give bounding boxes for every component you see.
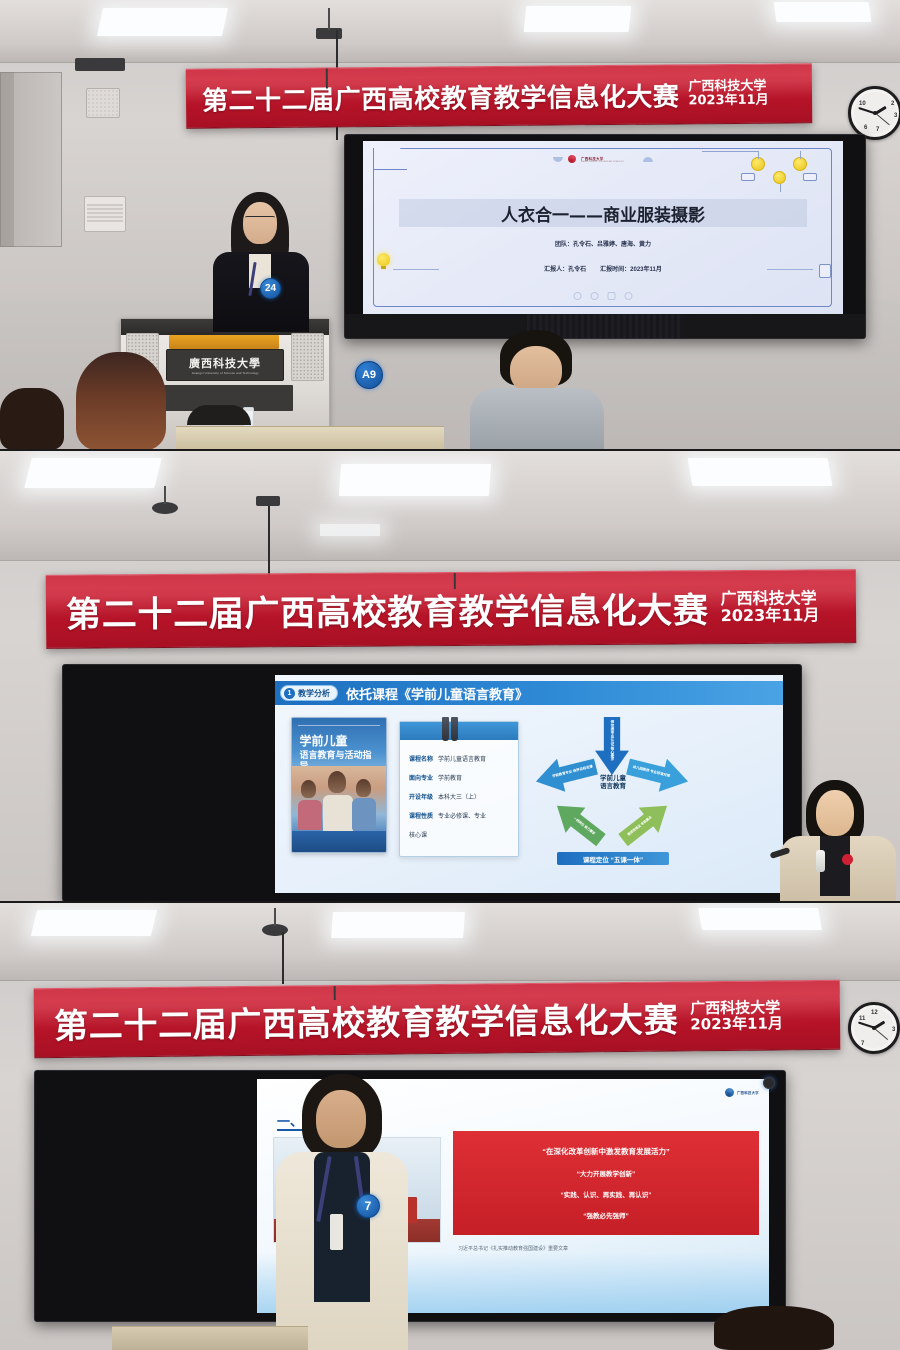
- photo-collage: 10 2 3 6 7 第二十二届广西高校教育教学信息化大赛 广西科技大学 202…: [0, 0, 900, 1350]
- banner-org-line2: 2023年11月: [688, 94, 768, 109]
- red-ribbon-badge: [842, 854, 853, 865]
- decor-node: [751, 157, 765, 171]
- book-photo: [292, 766, 386, 830]
- audience-member: [470, 330, 604, 450]
- diagram-arrow-bottom-left: 一线岗位 能力需求: [547, 793, 611, 853]
- contestant-number-badge: 7: [356, 1194, 380, 1218]
- banner-org-line2: 2023年11月: [690, 1015, 783, 1032]
- decor-chip: [741, 173, 755, 181]
- paper-clip-icon: [442, 717, 458, 741]
- course-info-row: 开设年级 本科大三（上）: [409, 792, 480, 801]
- presenter-face: [316, 1090, 366, 1148]
- course-info-row: 面向专业 学前教育: [409, 773, 462, 782]
- projector-body: [256, 496, 280, 506]
- banner-title: 第二十二届广西高校教育教学信息化大赛: [66, 582, 709, 637]
- quote-line: “强教必先强师”: [583, 1210, 629, 1220]
- banner-org: 广西科技大学 2023年11月: [720, 589, 819, 624]
- presenter-1: 24: [205, 192, 317, 332]
- university-logo-icon: [568, 155, 576, 163]
- ceiling-light: [698, 908, 822, 930]
- slide-teaching-analysis: 1 教学分析 依托课程《学前儿童语言教育》 学前儿童 语言教育与活动指导 主编 …: [275, 675, 783, 893]
- event-banner: 第二十二届广西高校教育教学信息化大赛 广西科技大学 2023年11月: [34, 980, 841, 1058]
- audience-member: [714, 1306, 844, 1350]
- panel-1: 10 2 3 6 7 第二十二届广西高校教育教学信息化大赛 广西科技大学 202…: [0, 0, 900, 450]
- presenter-glasses: [245, 216, 275, 223]
- decor-swoosh-left: [553, 157, 563, 162]
- banner-org-line2: 2023年11月: [721, 606, 820, 624]
- id-card: [330, 1214, 343, 1250]
- presenter-3: 7: [272, 1074, 412, 1350]
- diagram-arrow-bottom-right: 教师资格证 考核要点: [613, 793, 677, 853]
- play-icon: [591, 292, 599, 300]
- display-screen-2: 1 教学分析 依托课程《学前儿童语言教育》 学前儿童 语言教育与活动指导 主编 …: [62, 664, 802, 902]
- handheld-microphone: [816, 850, 825, 872]
- course-info-row: 课程名称 学前儿童语言教育: [409, 754, 486, 763]
- ceiling-light: [339, 464, 491, 496]
- classroom-scene-3: 12 11 3 7 第二十二届广西高校教育教学信息化大赛 广西科技大学 2023…: [0, 902, 900, 1350]
- textbook-cover: 学前儿童 语言教育与活动指导 主编 李静 副主编 王丽萍: [291, 717, 387, 853]
- classroom-scene-1: 10 2 3 6 7 第二十二届广西高校教育教学信息化大赛 广西科技大学 202…: [0, 0, 900, 450]
- five-arrow-diagram: 师范类专业认证 核心要求 学前教育专业 培养目标支撑 幼儿园教师 专业标准对接 …: [533, 715, 691, 865]
- decor-icon: [625, 292, 633, 300]
- ceiling-light: [524, 6, 632, 32]
- wall-speaker: [86, 88, 120, 118]
- slide-title: 人衣合一——商业服装摄影: [501, 201, 705, 226]
- slide-time: 汇报时间：2023年11月: [600, 264, 662, 273]
- decor-icon: [574, 292, 582, 300]
- lectern-speaker: [291, 333, 324, 381]
- contestant-number-badge: 24: [260, 278, 281, 299]
- ceiling-light: [774, 2, 872, 22]
- quote-line: “实践、认识、再实践、再认识”: [561, 1189, 652, 1199]
- banner-org: 广西科技大学 2023年11月: [688, 80, 769, 109]
- quote-box: “在深化改革创新中激发教育发展活力” “大力开展教学创新” “实践、认识、再实践…: [453, 1131, 759, 1235]
- ceiling-light: [31, 910, 157, 936]
- ceiling-light: [97, 8, 228, 36]
- presenter-face: [243, 202, 277, 244]
- ceiling-light: [331, 912, 465, 938]
- banner-org: 广西科技大学 2023年11月: [690, 999, 783, 1032]
- lightbulb-icon: [377, 253, 390, 266]
- ceiling-light: [24, 458, 161, 488]
- desk: [112, 1326, 308, 1350]
- diagram-center-label: 学前儿童 语言教育: [583, 775, 643, 791]
- projector-body: [75, 58, 125, 71]
- wall-clock: 12 11 3 7: [848, 1002, 900, 1054]
- course-info-row: 核心课: [409, 830, 427, 839]
- decor-chip: [803, 173, 817, 181]
- quote-line: “大力开展教学创新”: [577, 1168, 636, 1178]
- wall-control-panel: [84, 196, 126, 232]
- lectern-name-cn: 廣西科技大學: [189, 355, 261, 371]
- section-name: 教学分析: [298, 688, 330, 699]
- presenter-2: [770, 780, 900, 902]
- lectern-name-en: Guangxi University of Science and Techno…: [191, 371, 258, 375]
- audience-member: [62, 352, 180, 450]
- slide-title-page: 广西科技大学 GUANGXI UNIVERSITY OF SCIENCE AND…: [363, 141, 843, 314]
- quote-line: “在深化改革创新中激发教育发展活力”: [542, 1146, 670, 1157]
- lectern-nameplate: 廣西科技大學 Guangxi University of Science and…: [166, 349, 284, 381]
- wall-clock: 10 2 3 6 7: [848, 86, 900, 140]
- desk: [176, 426, 444, 450]
- ceiling-light: [320, 524, 380, 536]
- decor-icon: [608, 292, 616, 300]
- lectern-gold-band: [169, 335, 279, 349]
- slide-logo-text: 广西科技大学: [737, 1090, 759, 1095]
- panel-2: 第二十二届广西高校教育教学信息化大赛 广西科技大学 2023年11月 1 教学分…: [0, 450, 900, 902]
- book-title: 学前儿童: [300, 734, 379, 749]
- event-banner: 第二十二届广西高校教育教学信息化大赛 广西科技大学 2023年11月: [186, 63, 812, 128]
- decor-chip: [819, 264, 831, 278]
- university-logo-icon: [725, 1088, 734, 1097]
- presenter-face: [816, 790, 854, 836]
- banner-title: 第二十二届广西高校教育教学信息化大赛: [202, 76, 680, 117]
- slide-team-line: 团队：孔令石、吕雅婷、唐海、黄力: [363, 239, 843, 248]
- diagram-caption: 课程定位 “五课一体”: [557, 852, 669, 865]
- decor-node: [773, 171, 786, 184]
- screen-label-a9: A9: [355, 361, 383, 389]
- slide-header-title: 依托课程《学前儿童语言教育》: [346, 684, 528, 703]
- ceiling-light: [688, 458, 833, 486]
- decor-swoosh-right: [643, 157, 653, 162]
- display-screen-1: 广西科技大学 GUANGXI UNIVERSITY OF SCIENCE AND…: [344, 134, 866, 339]
- course-info-card: 课程名称 学前儿童语言教育 面向专业 学前教育 开设年级 本科大三（上）: [399, 721, 519, 857]
- slide-reporter: 汇报人：孔令石: [544, 264, 586, 273]
- screen-camera-icon: [763, 1077, 775, 1089]
- section-number: 1: [284, 688, 295, 699]
- classroom-scene-2: 第二十二届广西高校教育教学信息化大赛 广西科技大学 2023年11月 1 教学分…: [0, 450, 900, 902]
- section-tag: 1 教学分析: [280, 685, 338, 701]
- banner-org-line1: 广西科技大学: [720, 589, 819, 607]
- audience-member: [0, 388, 70, 450]
- slide-logo-text: 广西科技大学: [581, 156, 638, 161]
- panel-3: 12 11 3 7 第二十二届广西高校教育教学信息化大赛 广西科技大学 2023…: [0, 902, 900, 1350]
- event-banner: 第二十二届广西高校教育教学信息化大赛 广西科技大学 2023年11月: [46, 569, 856, 649]
- decor-node: [793, 157, 807, 171]
- banner-title: 第二十二届广西高校教育教学信息化大赛: [54, 992, 679, 1048]
- diagram-arrow-top: 师范类专业认证 核心要求: [595, 717, 629, 775]
- course-info-row: 课程性质 专业必修课、专业: [409, 811, 486, 820]
- slide-logo-subtext: GUANGXI UNIVERSITY OF SCIENCE AND TECHNO…: [581, 161, 624, 163]
